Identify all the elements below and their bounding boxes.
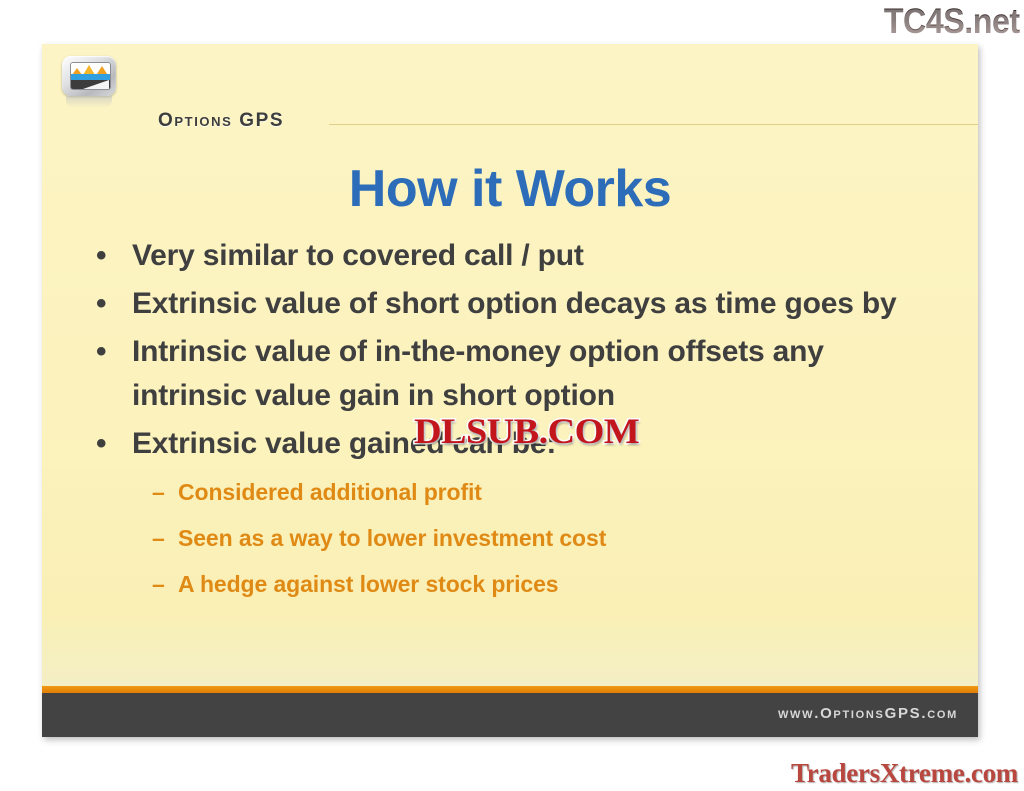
- gps-device-screen: [70, 62, 111, 90]
- sub-bullet-text: Considered additional profit: [178, 470, 482, 515]
- bullet-marker: •: [96, 282, 132, 326]
- dlsub-watermark: DLSUB.COM: [414, 412, 639, 450]
- list-item: • Extrinsic value of short option decays…: [96, 282, 956, 326]
- sub-bullet-marker: –: [152, 516, 178, 561]
- presentation-slide: Options GPS How it Works • Very similar …: [42, 44, 978, 737]
- page-title: How it Works: [42, 160, 978, 218]
- sub-bullet-text: A hedge against lower stock prices: [178, 562, 558, 607]
- site-brand-top: TC4S.net: [884, 2, 1020, 42]
- bullet-marker: •: [96, 234, 132, 278]
- sub-bullet-marker: –: [152, 470, 178, 515]
- bullet-marker: •: [96, 422, 132, 466]
- list-item: • Intrinsic value of in-the-money option…: [96, 330, 956, 418]
- site-brand-bottom: TradersXtreme.com: [791, 758, 1018, 788]
- sub-list-item: – Seen as a way to lower investment cost: [152, 516, 956, 561]
- options-gps-wordmark: Options GPS: [158, 110, 284, 132]
- sub-list-item: – A hedge against lower stock prices: [152, 562, 956, 607]
- bullet-text: Extrinsic value of short option decays a…: [132, 282, 896, 326]
- bullet-text: Very similar to covered call / put: [132, 234, 584, 278]
- gps-device-icon: [62, 56, 116, 98]
- header-divider: [329, 124, 978, 125]
- sub-bullet-marker: –: [152, 562, 178, 607]
- footer-url: www.OptionsGPS.com: [778, 705, 958, 722]
- bullet-marker: •: [96, 330, 132, 374]
- slide-footer: www.OptionsGPS.com: [42, 693, 978, 737]
- bullet-text: Intrinsic value of in-the-money option o…: [132, 330, 902, 418]
- sub-bullet-text: Seen as a way to lower investment cost: [178, 516, 606, 561]
- gps-device-reflection: [66, 96, 112, 108]
- slide-header: Options GPS: [42, 44, 978, 106]
- gps-screen-road: [83, 80, 109, 89]
- sub-list-item: – Considered additional profit: [152, 470, 956, 515]
- list-item: • Very similar to covered call / put: [96, 234, 956, 278]
- footer-accent-bar: [42, 686, 978, 693]
